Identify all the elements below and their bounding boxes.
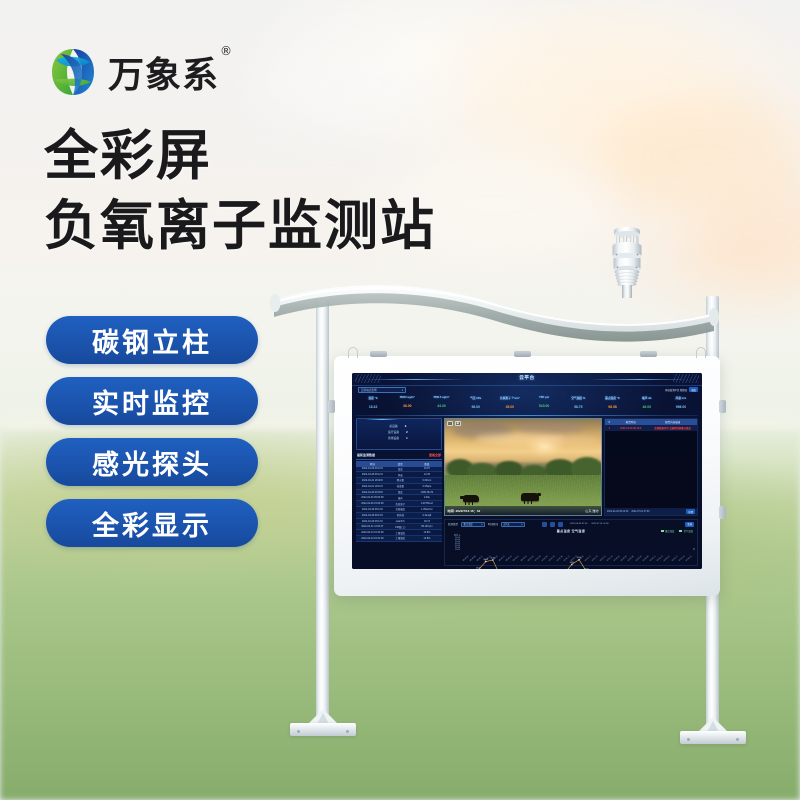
- x-tick-label: 07-01 13: [571, 556, 578, 562]
- alarm-footer-date: 2022-07-01 07:00: [631, 511, 649, 513]
- chevron-down-icon: ▾: [521, 523, 522, 526]
- left-post-base: [290, 710, 356, 736]
- metric-7: 空气湿度 %58.75: [561, 395, 595, 415]
- chart-bar-view-icon[interactable]: [550, 522, 555, 527]
- chevron-down-icon: ▾: [481, 523, 482, 526]
- x-tick-label: 06-30 19: [506, 556, 513, 562]
- brand-logo-row: 万象系 ®: [48, 46, 219, 98]
- x-tick-label: 07-01 01: [527, 556, 534, 562]
- alarm-column-header: #: [605, 421, 613, 424]
- base-bolt: [687, 738, 690, 741]
- table-cell: 湿度: [389, 490, 412, 494]
- metric-value: 38.00: [390, 404, 424, 408]
- table-cell: 2022-04-26 09:12:9: [356, 467, 389, 470]
- feature-badge-2[interactable]: 实时监控: [46, 377, 258, 425]
- station-select-value: 云南站点监测: [361, 388, 377, 392]
- fullscreen-icon[interactable]: ⛶: [447, 421, 453, 427]
- metric-1: 温度 ℃16.32: [356, 395, 390, 415]
- x-tick-label: 07-02 03: [621, 556, 628, 562]
- alarm-footer: 2022-04-26 09:12:362022-07-01 07:00详情: [605, 508, 697, 515]
- table-cell: 2022-04-26 08:13:8: [356, 508, 389, 511]
- metric-3: PM2.5 ug/m³44.00: [424, 395, 458, 415]
- metric-label: 噪声 db: [630, 396, 664, 400]
- table-row[interactable]: 2022-03-13 15:31:28土壤湿度12.8%: [356, 536, 442, 542]
- table-cell: 18.73: [412, 520, 442, 523]
- table-cell: 58.100.pm: [412, 525, 442, 528]
- metric-5: 负氧离子 个/cm³35.00: [493, 395, 527, 415]
- metric-label: 露点温度 ℃: [595, 396, 629, 400]
- x-tick-label: 07-01 15: [578, 556, 585, 562]
- x-tick-label: 07-02 13: [657, 556, 664, 562]
- metric-9: 噪声 db46.00: [630, 395, 664, 415]
- table-cell: 温度: [389, 467, 412, 471]
- feature-badge-list: 碳钢立柱实时监控感光探头全彩显示: [46, 316, 258, 560]
- table-cell: 2022-03-13 15:31:28: [356, 531, 389, 534]
- x-tick-label: 06-30 23: [520, 556, 527, 562]
- latest-data-header: 最新监测数据 查看全部: [356, 453, 442, 460]
- headline-line-2: 负氧离子监测站: [44, 194, 436, 258]
- alarm-cell: 2022-04-26 09:12:9: [613, 427, 648, 430]
- alarm-table-body: 12022-04-26 09:12:9监测数据异常 设备断线报警已触发: [605, 425, 697, 431]
- chart-type-value: 露点温度: [464, 522, 473, 526]
- table-cell: 1036.36uTk: [412, 491, 442, 494]
- table-cell: 2022-04-26 09:03:8: [356, 491, 389, 494]
- mount-hook: [696, 347, 706, 358]
- platform-user-label: 环境监测平台 管理员: [665, 388, 687, 392]
- alarm-cell: 1: [605, 427, 613, 430]
- table-cell: 16.87: [412, 467, 442, 470]
- table-cell: 土壤湿度: [389, 536, 412, 540]
- station-select[interactable]: 云南站点监测 ▾: [358, 387, 406, 393]
- device-stat-row: 离线设备1: [361, 436, 437, 440]
- chevron-down-icon: ▾: [402, 389, 403, 392]
- mount-bracket: [370, 351, 387, 357]
- table-cell: 2022-04-21 18:10:9: [356, 485, 389, 488]
- table-cell: 12.36: [412, 473, 442, 476]
- chart-line-view-icon[interactable]: [542, 522, 547, 527]
- metric-4: 气压 kPa98.00: [459, 395, 493, 415]
- table-cell: 12.8%: [412, 537, 442, 540]
- trend-chart-panel: 监测类型 露点温度 ▾ 时间区间 近7天 ▾: [444, 519, 698, 566]
- mount-hook: [348, 347, 358, 358]
- x-tick-label: 07-02 21: [686, 556, 693, 562]
- table-cell: 2022-04-26 09:05:28: [356, 496, 389, 499]
- x-tick-label: 07-02 07: [635, 556, 642, 562]
- x-tick-label: 07-02 19: [678, 556, 685, 562]
- video-location: 山东 潍坊: [585, 508, 598, 513]
- stat-key: 总设备: [389, 424, 397, 428]
- x-tick-label: 07-01 23: [607, 556, 614, 562]
- x-tick-label: 06-30 09: [470, 556, 477, 562]
- chart-x-unit: 时: [693, 548, 695, 551]
- alarm-panel: #报警时间报警内容描述 12022-04-26 09:12:9监测数据异常 设备…: [604, 418, 698, 516]
- chart-y-axis-ticks: 70.0060.0050.0040.0030.0020.0010.00: [448, 537, 460, 551]
- metric-value: 16.32: [356, 405, 390, 409]
- table-cell: 2022-04-26 09:12:9: [356, 473, 389, 476]
- mount-bracket: [514, 351, 531, 357]
- table-cell: 降水量: [389, 478, 412, 482]
- table-cell: 紫外线: [389, 513, 412, 517]
- base-bolt: [346, 730, 349, 733]
- table-cell: 0.05kpa: [412, 485, 442, 488]
- chart-query-button[interactable]: 查询: [685, 522, 694, 527]
- alarm-column-header: 报警内容描述: [648, 420, 697, 424]
- side-lug: [719, 400, 726, 413]
- metric-value: 543.00: [527, 404, 561, 408]
- table-cell: 1.05w/lmm: [412, 508, 442, 511]
- table-cell: 2022-04-21 11:53:47: [356, 525, 389, 528]
- table-cell: 土壤温度: [389, 531, 412, 535]
- metrics-underline: [356, 415, 698, 416]
- table-cell: 2022-04-21 18:40:8: [356, 479, 389, 482]
- x-tick-label: 07-01 07: [549, 556, 556, 562]
- x-tick-label: 07-01 21: [599, 556, 606, 562]
- cloud-platform-dashboard: 云平台 云南站点监测 ▾ 环境监测平台 管理员 退出 温度 ℃16.32PM10…: [352, 373, 702, 569]
- metric-value: 98.58: [595, 405, 629, 409]
- metric-label: PM2.5 ug/m³: [424, 396, 458, 399]
- x-tick-label: 07-02 05: [628, 556, 635, 562]
- feature-badge-3[interactable]: 感光探头: [46, 438, 258, 486]
- stat-value: 2: [406, 430, 410, 434]
- latest-data-table: 时间类型数值2022-04-26 09:12:9温度16.872022-04-2…: [356, 461, 442, 542]
- device-stat-row: 运行设备2: [361, 430, 437, 434]
- video-cloud: [545, 435, 600, 445]
- headline-block: 全彩屏 负氧离子监测站: [44, 124, 436, 257]
- x-tick-label: 07-01 05: [542, 556, 549, 562]
- x-tick-label: 07-01 09: [556, 556, 563, 562]
- table-cell: 2022-04-26 08:13:9: [356, 520, 389, 523]
- table-cell: 0.00mm: [412, 479, 442, 482]
- legend-swatch: [679, 530, 682, 532]
- brand-name-text: 万象系: [108, 55, 219, 96]
- right-post-base: [680, 718, 746, 744]
- metric-label: 气压 kPa: [459, 396, 493, 400]
- globe-swirl-logo-icon: [48, 46, 98, 98]
- chart-toolbar: 监测类型 露点温度 ▾ 时间区间 近7天 ▾: [445, 520, 697, 528]
- chart-date-to[interactable]: 2022-07-01 07:00: [591, 523, 608, 525]
- table-cell: 2022-04-26 15:00:38: [356, 502, 389, 505]
- table-column-header: 数值: [412, 462, 442, 466]
- latest-data-title: 最新监测数据: [357, 453, 375, 457]
- metric-8: 露点温度 ℃98.58: [595, 395, 629, 415]
- chart-title: 露点温度 空气湿度: [445, 529, 697, 533]
- feature-badge-1[interactable]: 碳钢立柱: [46, 316, 258, 364]
- metric-6: TSP μm543.00: [527, 395, 561, 415]
- poster-stage: 云平台 云南站点监测 ▾ 环境监测平台 管理员 退出 温度 ℃16.32PM10…: [0, 0, 800, 800]
- legend-entry[interactable]: 空气湿度: [679, 529, 693, 533]
- camera-feed[interactable]: ⛶ ◉ 时间: 2022/7/13 16：42 山东 潍坊: [444, 418, 602, 516]
- x-tick-label: 07-01 17: [585, 556, 592, 562]
- x-tick-label: 06-30 07: [463, 556, 470, 562]
- metric-value: 44.00: [424, 404, 458, 408]
- table-cell: 噪声: [389, 496, 412, 500]
- metric-label: 空气湿度 %: [561, 396, 595, 400]
- base-bolt: [736, 738, 739, 741]
- table-cell: 2.00u: [412, 496, 442, 499]
- cow-silhouette: [463, 495, 479, 502]
- stat-value: 3: [405, 424, 409, 428]
- table-cell: PM值(工): [389, 525, 412, 529]
- chart-type-select[interactable]: 露点温度 ▾: [461, 522, 485, 527]
- view-all-link[interactable]: 查看全部: [429, 453, 441, 457]
- table-cell: 2022-03-13 15:31:28: [356, 537, 389, 540]
- cow-silhouette: [521, 493, 539, 501]
- led-screen: 云平台 云南站点监测 ▾ 环境监测平台 管理员 退出 温度 ℃16.32PM10…: [352, 373, 702, 569]
- video-controls: ⛶ ◉: [447, 421, 461, 427]
- legend-swatch: [661, 530, 664, 532]
- x-tick-label: 07-02 11: [650, 556, 657, 562]
- table-cell: 光照强度: [389, 507, 412, 511]
- side-lug: [719, 506, 726, 519]
- table-cell: solar37u: [389, 520, 412, 523]
- chart-table-view-icon[interactable]: [558, 522, 563, 527]
- metric-value: 58.75: [561, 405, 595, 409]
- chart-point-label: 26.00: [476, 567, 481, 569]
- x-tick-label: 06-30 17: [499, 556, 506, 562]
- table-cell: 2022-04-26 09:13:9: [356, 514, 389, 517]
- chart-date-from[interactable]: 2022-06-30 07:00: [570, 523, 587, 525]
- x-tick-label: 07-02 15: [664, 556, 671, 562]
- legend-label: 空气湿度: [684, 529, 693, 533]
- metric-10: 风速 m/s998.00: [664, 395, 698, 415]
- chart-legend: 露点温度空气湿度: [661, 529, 693, 533]
- metric-label: PM10 ug/m³: [390, 396, 424, 399]
- x-tick-label: 07-01 19: [592, 556, 599, 562]
- alarm-row[interactable]: 12022-04-26 09:12:9监测数据异常 设备断线报警已触发: [605, 425, 697, 431]
- metrics-bar: 温度 ℃16.32PM10 ug/m³38.00PM2.5 ug/m³44.00…: [356, 395, 698, 415]
- metric-label: TSP μm: [527, 396, 561, 399]
- chart-type-label: 监测类型: [448, 522, 458, 526]
- x-tick-label: 07-01 03: [535, 556, 542, 562]
- table-cell: 负氧离子: [389, 502, 412, 506]
- chart-plot-area: 单位 % 70.0060.0050.0040.0030.0020.0010.00…: [448, 536, 694, 564]
- metric-value: 46.00: [630, 405, 664, 409]
- header-deco-line: [366, 379, 464, 380]
- x-tick-label: 07-02 09: [642, 556, 649, 562]
- x-tick-label: 07-02 17: [671, 556, 678, 562]
- metric-value: 998.00: [664, 405, 698, 409]
- table-cell: 13.8%: [412, 531, 442, 534]
- legend-label: 露点温度: [665, 529, 674, 533]
- headline-line-1: 全彩屏: [44, 124, 436, 188]
- chart-range-label: 时间区间: [488, 522, 498, 526]
- alarm-detail-button[interactable]: 详情: [686, 509, 695, 514]
- x-tick-label: 07-02 01: [614, 556, 621, 562]
- metric-label: 温度 ℃: [356, 396, 390, 400]
- left-panel: 总设备3运行设备2离线设备1 最新监测数据 查看全部 时间类型数值2022-04…: [356, 418, 442, 565]
- base-bolt: [297, 730, 300, 733]
- x-tick-label: 06-30 11: [477, 556, 484, 562]
- x-tick-label: 06-30 15: [491, 556, 498, 562]
- registered-trademark-icon: ®: [220, 44, 233, 58]
- table-cell: 1.00TSCu/r: [412, 502, 442, 505]
- metric-2: PM10 ug/m³38.00: [390, 395, 424, 415]
- chart-view-toggles: [542, 522, 563, 527]
- feature-badge-4[interactable]: 全彩显示: [46, 499, 258, 547]
- header-user-area: 环境监测平台 管理员 退出: [665, 387, 698, 392]
- snapshot-icon[interactable]: ◉: [455, 421, 461, 427]
- table-header-row: 时间类型数值: [356, 461, 442, 467]
- x-tick-label: 06-30 21: [513, 556, 520, 562]
- table-cell: 0.4tmg8: [412, 514, 442, 517]
- x-tick-label: 07-01 11: [563, 556, 570, 562]
- table-cell: 蒸发量: [389, 484, 412, 488]
- header-deco-line: [590, 379, 688, 380]
- device-stats-card: 总设备3运行设备2离线设备1: [356, 418, 442, 450]
- left-support-post: [316, 300, 329, 736]
- side-lug: [328, 400, 335, 413]
- table-cell: 风速: [389, 473, 412, 477]
- dashboard-header: 云平台: [352, 373, 702, 386]
- dashboard-title: 云平台: [519, 375, 535, 381]
- table-column-header: 时间: [356, 462, 389, 466]
- brand-name: 万象系 ®: [108, 46, 219, 98]
- metric-value: 35.00: [493, 405, 527, 409]
- stat-key: 运行设备: [388, 430, 399, 434]
- chart-range-select[interactable]: 近7天 ▾: [501, 522, 525, 527]
- table-column-header: 类型: [389, 462, 412, 466]
- device-stat-row: 总设备3: [361, 424, 437, 428]
- mount-bracket: [640, 351, 657, 357]
- alarm-cell: 监测数据异常 设备断线报警已触发: [648, 426, 697, 430]
- stat-value: 1: [406, 436, 410, 440]
- legend-entry[interactable]: 露点温度: [661, 529, 675, 533]
- logout-button[interactable]: 退出: [689, 387, 698, 392]
- y-tick-label: 10.00: [448, 549, 460, 551]
- live-camera-panel[interactable]: ⛶ ◉ 时间: 2022/7/13 16：42 山东 潍坊: [444, 418, 602, 516]
- chart-date-range: 2022-06-30 07:00 2022-07-01 07:00: [570, 523, 609, 525]
- stat-key: 离线设备: [388, 436, 399, 440]
- alarm-column-header: 报警时间: [613, 420, 648, 424]
- chart-range-value: 近7天: [504, 522, 510, 526]
- x-tick-label: 06-30 13: [484, 556, 491, 562]
- chart-x-axis-labels: 06-30 0706-30 0906-30 1106-30 1306-30 15…: [461, 551, 690, 564]
- alarm-footer-date: 2022-04-26 09:12:36: [607, 511, 628, 513]
- canopy-roof: [268, 281, 720, 343]
- video-overlay-bar: 时间: 2022/7/13 16：42 山东 潍坊: [445, 506, 601, 515]
- metric-label: 风速 m/s: [664, 396, 698, 400]
- video-timestamp: 时间: 2022/7/13 16：42: [448, 508, 481, 513]
- metric-label: 负氧离子 个/cm³: [493, 396, 527, 400]
- display-cabinet: 云平台 云南站点监测 ▾ 环境监测平台 管理员 退出 温度 ℃16.32PM10…: [334, 356, 720, 596]
- metric-value: 98.00: [459, 405, 493, 409]
